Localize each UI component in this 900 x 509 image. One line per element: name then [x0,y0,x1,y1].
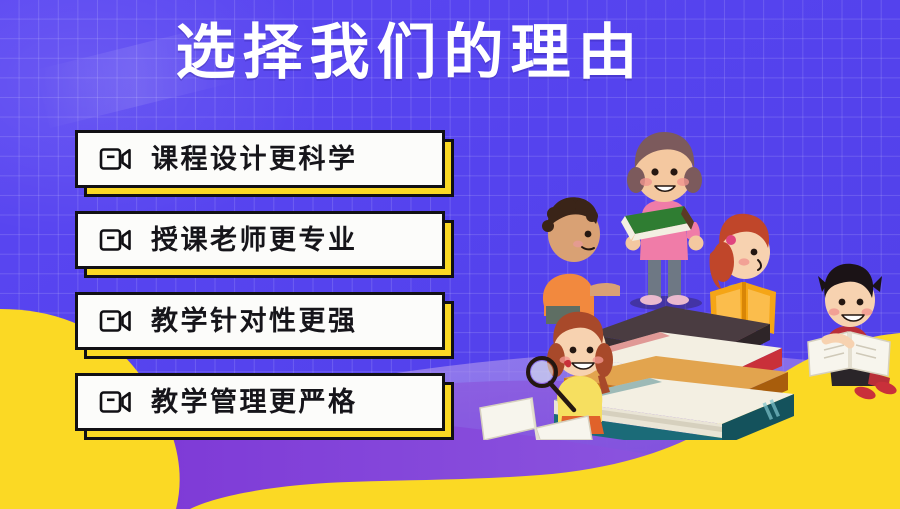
feature-list: 课程设计更科学 授课老师更专业 教学 [75,130,465,454]
feature-label: 教学针对性更强 [151,306,358,336]
feature-label: 教学管理更严格 [151,387,358,417]
list-item[interactable]: 教学管理更严格 [75,373,445,431]
character-boy-orange-shirt [542,197,620,324]
feature-label: 授课老师更专业 [151,225,358,255]
feature-card[interactable]: 授课老师更专业 [75,211,445,269]
character-girl-standing-pink [621,132,704,310]
feature-card[interactable]: 教学管理更严格 [75,373,445,431]
character-boy-red-shirt [808,264,898,402]
promo-poster: 选择我们的理由 课程设计更科学 授课老师更专业 [0,0,900,509]
video-camera-icon [99,146,133,172]
feature-card[interactable]: 课程设计更科学 [75,130,445,188]
page-title: 选择我们的理由 [0,18,820,88]
video-camera-icon [99,308,133,334]
children-reading-illustration [470,110,900,440]
video-camera-icon [99,389,133,415]
list-item[interactable]: 课程设计更科学 [75,130,445,188]
feature-label: 课程设计更科学 [151,144,358,174]
list-item[interactable]: 教学针对性更强 [75,292,445,350]
feature-card[interactable]: 教学针对性更强 [75,292,445,350]
list-item[interactable]: 授课老师更专业 [75,211,445,269]
video-camera-icon [99,227,133,253]
